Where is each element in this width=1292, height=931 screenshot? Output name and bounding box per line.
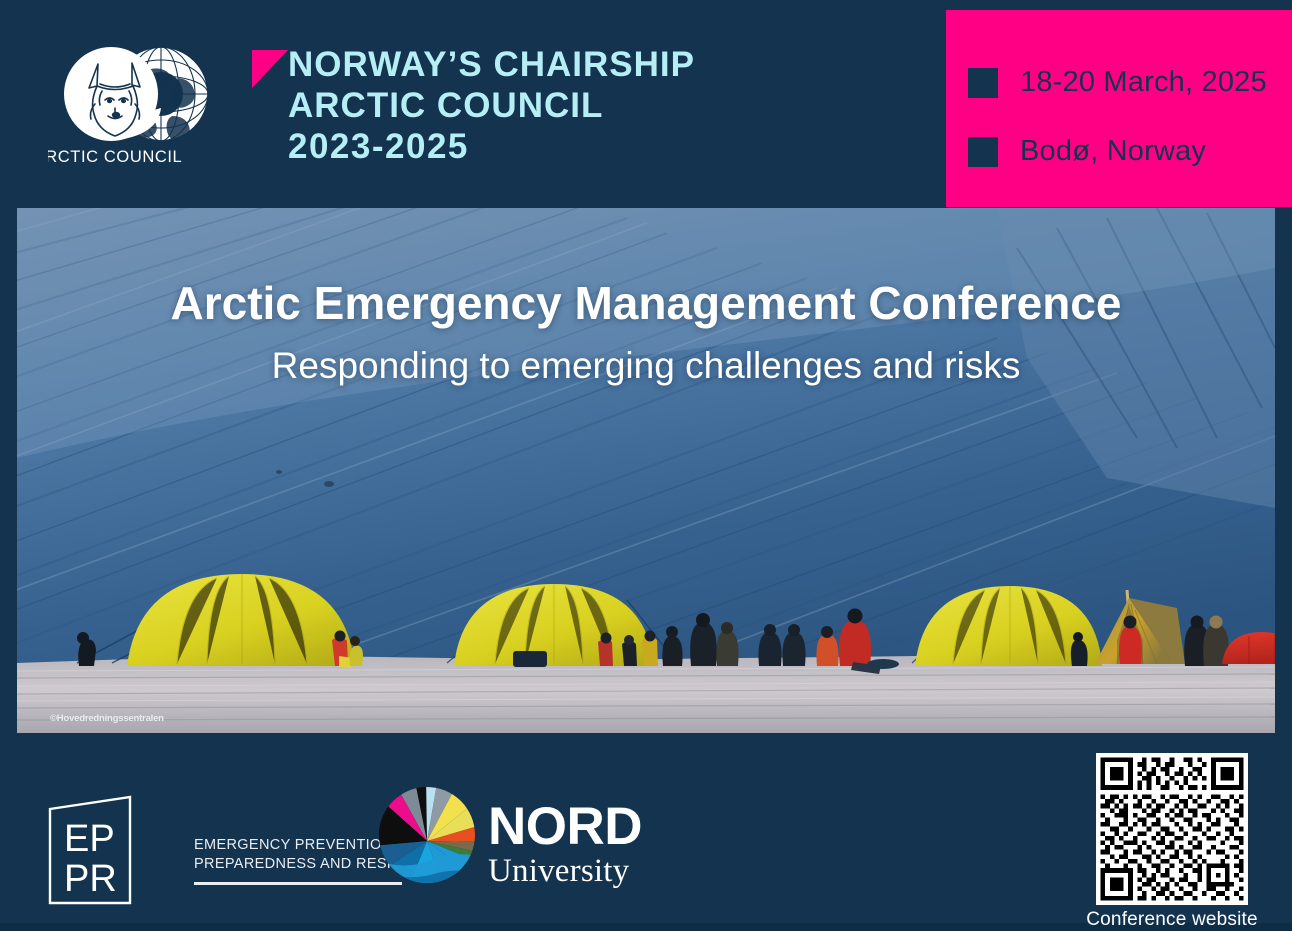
nord-wordmark: NORD University <box>488 799 642 889</box>
eppr-logo: EP PR EMERGENCY PREVENTION, PREPAREDNESS… <box>48 795 368 905</box>
nord-subtitle: University <box>488 853 642 889</box>
eppr-underline <box>194 882 402 885</box>
event-location-row: Bodø, Norway <box>968 135 1206 168</box>
arctic-council-logo: ARCTIC COUNCIL <box>48 38 216 168</box>
conference-title: Arctic Emergency Management Conference <box>17 276 1275 330</box>
eppr-monogram-icon: EP PR <box>48 795 132 905</box>
chairship-line-2: ARCTIC COUNCIL <box>288 85 695 126</box>
header: ARCTIC COUNCIL NORWAY’S CHAIRSHIP ARCTIC… <box>0 0 1292 208</box>
nord-university-logo: NORD University <box>378 786 668 894</box>
eppr-monogram-line-2: PR <box>64 858 117 900</box>
conference-subtitle: Responding to emerging challenges and ri… <box>17 344 1275 388</box>
chairship-line-1: NORWAY’S CHAIRSHIP <box>288 44 695 85</box>
nord-emblem-icon <box>378 786 476 884</box>
hero-title-block: Arctic Emergency Management Conference R… <box>17 276 1275 388</box>
event-date: 18-20 March, 2025 <box>1020 66 1267 99</box>
arctic-council-logo-caption: ARCTIC COUNCIL <box>48 148 182 166</box>
hero-photo: Arctic Emergency Management Conference R… <box>17 208 1275 733</box>
footer: EP PR EMERGENCY PREVENTION, PREPAREDNESS… <box>0 733 1292 923</box>
photo-credit: ©Hovedredningssentralen <box>50 713 164 724</box>
event-details-panel: 18-20 March, 2025 Bodø, Norway <box>946 10 1292 207</box>
chairship-line-3: 2023-2025 <box>288 126 695 167</box>
nord-name: NORD <box>488 799 642 855</box>
pink-triangle-icon <box>252 50 288 88</box>
qr-code-icon[interactable] <box>1096 753 1248 905</box>
event-location: Bodø, Norway <box>1020 135 1206 168</box>
event-date-row: 18-20 March, 2025 <box>968 66 1267 99</box>
chairship-heading: NORWAY’S CHAIRSHIP ARCTIC COUNCIL 2023-2… <box>288 44 695 167</box>
bullet-square-icon <box>968 137 998 167</box>
bullet-square-icon <box>968 68 998 98</box>
conference-website-qr[interactable]: Conference website <box>1096 753 1256 931</box>
qr-label: Conference website <box>1082 909 1262 931</box>
eppr-monogram-line-1: EP <box>64 818 115 860</box>
